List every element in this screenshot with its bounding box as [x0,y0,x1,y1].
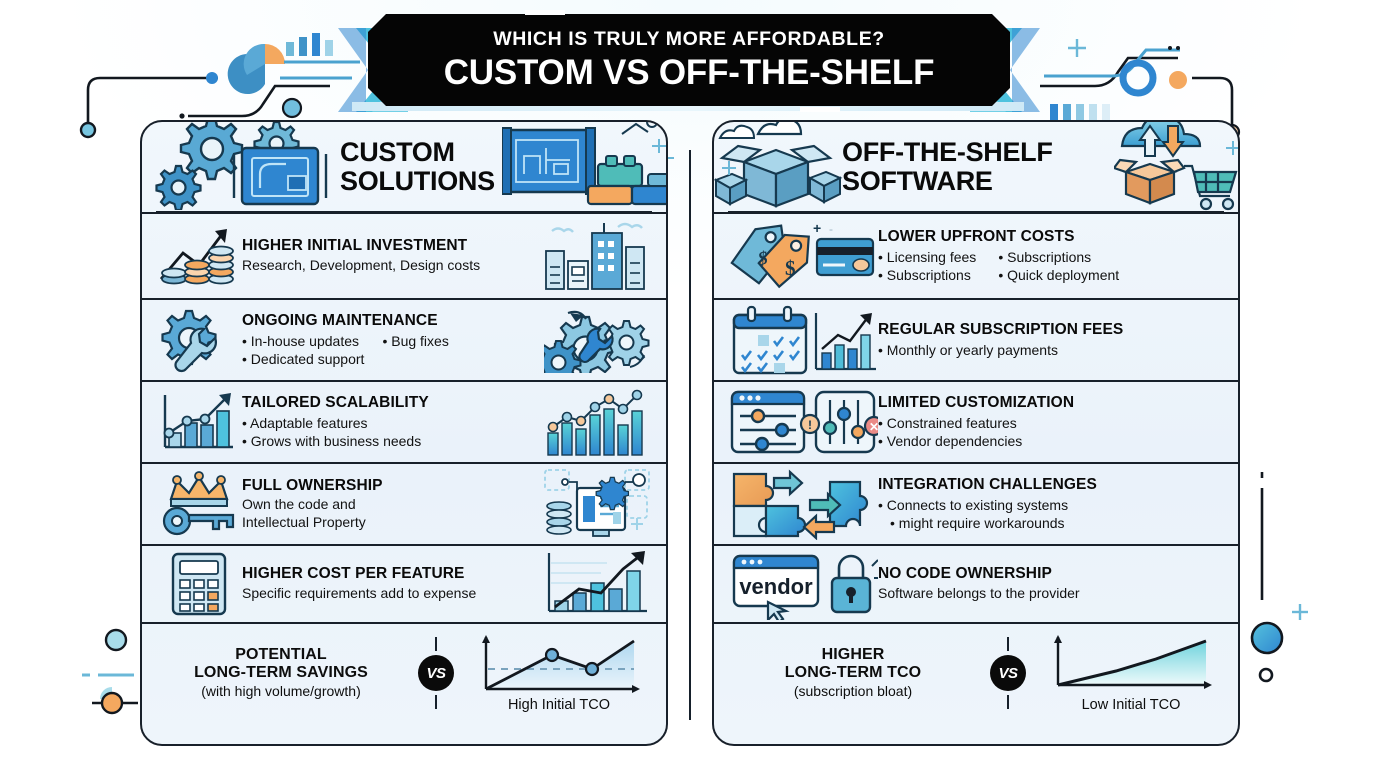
footer-line2: LONG-TERM TCO [728,664,978,682]
gears-wrench-icon [542,307,652,373]
coins-growth-arrow-icon [156,223,242,289]
blueprint-blocks-icon [502,120,668,212]
row-bullets: Connects to existing systems might requi… [878,496,1224,532]
vs-separator: VS [406,637,466,709]
rising-bar-chart-icon [542,549,652,619]
row-integration-challenges: INTEGRATION CHALLENGES Connects to exist… [714,462,1238,544]
vs-tick-bottom [1007,695,1009,709]
row-text: REGULAR SUBSCRIPTION FEES Monthly or yea… [878,321,1224,359]
vendor-window-lock-icon: vendor [728,548,878,620]
vs-badge: VS [418,655,454,691]
calendar-checks-growth-chart-icon [728,305,878,375]
svg-text:vendor: vendor [739,574,813,599]
header-banner: WHICH IS TRULY MORE AFFORDABLE? CUSTOM V… [0,6,1376,110]
ots-title-line2: SOFTWARE [842,167,1053,196]
row-text: FULL OWNERSHIP Own the code and Intellec… [242,477,542,532]
custom-title-line1: CUSTOM [340,138,495,167]
ots-title-line1: OFF-THE-SHELF [842,138,1053,167]
bullet-continuation: might require workarounds [878,514,1068,532]
vs-tick-top [435,637,437,651]
ots-header: OFF-THE-SHELF SOFTWARE [714,122,1238,212]
bullet: Monthly or yearly payments [878,341,1058,359]
high-initial-tco-linechart [474,633,644,699]
row-bullets: Licensing fees Subscriptions Subscriptio… [878,248,1224,284]
row-subtitle: Software belongs to the provider [878,585,1224,603]
banner-subtitle: WHICH IS TRULY MORE AFFORDABLE? [493,30,885,50]
row-title: LIMITED CUSTOMIZATION [878,394,1224,412]
row-no-code-ownership: vendor NO CODE OWNERSHIP Software belong… [714,544,1238,622]
bullet: Quick deployment [998,266,1119,284]
row-title: NO CODE OWNERSHIP [878,565,1224,583]
row-title: HIGHER COST PER FEATURE [242,565,542,583]
bullet: Connects to existing systems [878,496,1068,514]
footer-note: (with high volume/growth) [156,683,406,700]
row-title: TAILORED SCALABILITY [242,394,542,412]
svg-text:+: + [813,221,821,236]
cloud-sync-cart-box-icon [1114,120,1240,212]
row-higher-cost-per-feature: HIGHER COST PER FEATURE Specific require… [142,544,666,622]
row-text: ONGOING MAINTENANCE In-house updates Ded… [242,312,542,368]
row-title: REGULAR SUBSCRIPTION FEES [878,321,1224,339]
row-bullets: In-house updates Dedicated support Bug f… [242,332,542,368]
price-tags-credit-card-icon: $ $ + - [728,221,878,291]
footer-line2: LONG-TERM SAVINGS [156,664,406,682]
row-text: LOWER UPFRONT COSTS Licensing fees Subsc… [878,228,1224,284]
row-text: HIGHER INITIAL INVESTMENT Research, Deve… [242,237,542,274]
vs-badge: VS [990,655,1026,691]
ots-title: OFF-THE-SHELF SOFTWARE [842,138,1053,195]
custom-header: CUSTOM SOLUTIONS [142,122,666,212]
bullet: Subscriptions [998,248,1119,266]
row-bullets: Adaptable features Grows with business n… [242,414,542,450]
open-boxes-clouds-icon [714,120,844,212]
column-off-the-shelf: OFF-THE-SHELF SOFTWARE [712,120,1240,746]
custom-chart-label: High Initial TCO [508,697,610,713]
bullet: Subscriptions [878,266,976,284]
row-full-ownership: FULL OWNERSHIP Own the code and Intellec… [142,462,666,544]
bullet: In-house updates [242,332,364,350]
row-text: HIGHER COST PER FEATURE Specific require… [242,565,542,602]
row-bullets: Constrained features Vendor dependencies [878,414,1224,450]
footer-line1: HIGHER [728,646,978,664]
row-subtitle: Research, Development, Design costs [242,257,542,275]
vs-tick-top [1007,637,1009,651]
bullet: Bug fixes [382,332,448,350]
document-gear-server-icon [542,466,652,542]
bullet: Dedicated support [242,350,364,368]
row-ongoing-maintenance: ONGOING MAINTENANCE In-house updates Ded… [142,298,666,380]
row-title: INTEGRATION CHALLENGES [878,476,1224,494]
svg-text:$: $ [785,256,796,280]
custom-title: CUSTOM SOLUTIONS [340,138,495,195]
row-subtitle: Own the code and Intellectual Property [242,496,542,531]
banner-notch-bottom [800,107,840,112]
crown-key-icon [156,471,242,537]
ots-footer: HIGHER LONG-TERM TCO (subscription bloat… [714,622,1238,722]
calculator-icon [156,550,242,618]
custom-title-line2: SOLUTIONS [340,167,495,196]
bar-chart-arrow-icon [156,389,242,455]
bullet: Vendor dependencies [878,432,1022,450]
row-subtitle: Specific requirements add to expense [242,585,542,603]
bullet: Adaptable features [242,414,421,432]
banner-notch-top [525,10,565,15]
ots-chart-label: Low Initial TCO [1082,697,1181,713]
row-title: LOWER UPFRONT COSTS [878,228,1224,246]
svg-text:-: - [829,222,833,236]
row-text: TAILORED SCALABILITY Adaptable features … [242,394,542,450]
footer-line1: POTENTIAL [156,646,406,664]
column-custom-solutions: CUSTOM SOLUTIONS [140,120,668,746]
row-bullets: Monthly or yearly payments [878,341,1224,359]
low-initial-tco-linechart [1046,633,1216,699]
banner-title: CUSTOM VS OFF-THE-SHELF [444,55,935,90]
footer-note: (subscription bloat) [728,683,978,700]
city-buildings-icon [542,221,652,291]
vs-separator: VS [978,637,1038,709]
bar-line-chart-icon [542,387,652,457]
row-text: LIMITED CUSTOMIZATION Constrained featur… [878,394,1224,450]
custom-footer: POTENTIAL LONG-TERM SAVINGS (with high v… [142,622,666,722]
sliders-settings-panel-icon: ! ✕ [728,386,878,458]
column-divider [689,150,691,720]
ots-footer-text: HIGHER LONG-TERM TCO (subscription bloat… [728,646,978,700]
vs-tick-bottom [435,695,437,709]
gear-wrench-icon [156,307,242,373]
row-text: NO CODE OWNERSHIP Software belongs to th… [878,565,1224,602]
bullet-continuation-text: might require workarounds [899,515,1065,531]
row-title: FULL OWNERSHIP [242,477,542,495]
bullet: Grows with business needs [242,432,421,450]
bullet: Licensing fees [878,248,976,266]
row-lower-upfront-costs: $ $ + - LOWER UPFRONT COSTS Licensing fe… [714,212,1238,298]
row-regular-subscription-fees: REGULAR SUBSCRIPTION FEES Monthly or yea… [714,298,1238,380]
row-limited-customization: ! ✕ LIMITED CUSTOMIZATION Constrained fe… [714,380,1238,462]
custom-footer-text: POTENTIAL LONG-TERM SAVINGS (with high v… [156,646,406,700]
puzzle-pieces-arrows-icon [728,468,878,540]
bullet: Constrained features [878,414,1022,432]
ots-tco-chart: Low Initial TCO [1038,633,1224,713]
row-tailored-scalability: TAILORED SCALABILITY Adaptable features … [142,380,666,462]
banner-plate: WHICH IS TRULY MORE AFFORDABLE? CUSTOM V… [368,14,1010,106]
row-title: ONGOING MAINTENANCE [242,312,542,330]
svg-text:!: ! [808,418,812,432]
row-text: INTEGRATION CHALLENGES Connects to exist… [878,476,1224,532]
svg-text:✕: ✕ [869,420,878,434]
gears-blueprint-icon [148,120,338,210]
custom-tco-chart: High Initial TCO [466,633,652,713]
row-title: HIGHER INITIAL INVESTMENT [242,237,542,255]
row-higher-initial-investment: HIGHER INITIAL INVESTMENT Research, Deve… [142,212,666,298]
